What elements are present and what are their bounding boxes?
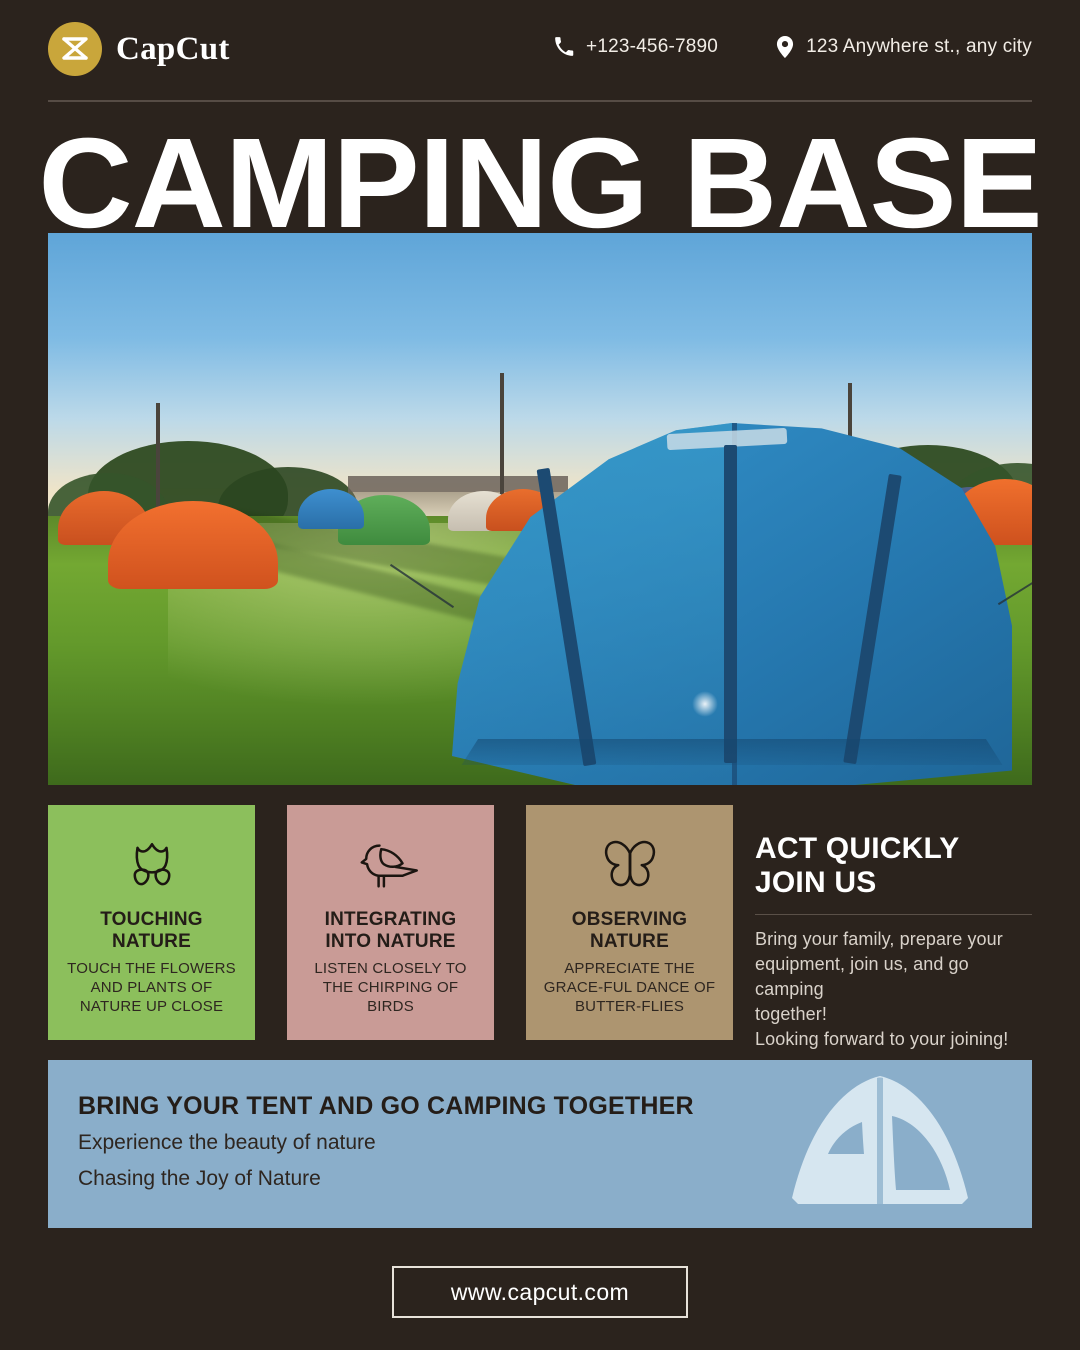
banner-text-block: BRING YOUR TENT AND GO CAMPING TOGETHER … [78, 1092, 778, 1193]
page-title: CAMPING BASE [0, 128, 1080, 240]
lens-flare [692, 691, 718, 717]
phone-contact[interactable]: +123-456-7890 [554, 36, 718, 58]
phone-icon [554, 37, 574, 57]
card-description: APPRECIATE THE GRACE-FUL DANCE OF BUTTER… [526, 959, 733, 1016]
capcut-glyph-icon [60, 36, 90, 62]
website-url: www.capcut.com [451, 1279, 629, 1306]
address-text: 123 Anywhere st., any city [806, 36, 1032, 58]
contact-info: +123-456-7890 123 Anywhere st., any city [554, 36, 1032, 58]
card-title-line1: TOUCHING [100, 909, 203, 931]
banner-line-2: Chasing the Joy of Nature [78, 1164, 778, 1193]
feature-card-observing-nature[interactable]: OBSERVING NATURE APPRECIATE THE GRACE-FU… [526, 805, 733, 1040]
tent-strap-2 [724, 445, 737, 763]
cta-body-line3: together! [755, 1002, 1032, 1027]
header: CapCut +123-456-7890 123 Anywhere st., a… [0, 0, 1080, 100]
location-pin-icon [776, 36, 794, 58]
cta-banner: BRING YOUR TENT AND GO CAMPING TOGETHER … [48, 1060, 1032, 1228]
cta-body-line2: equipment, join us, and go camping [755, 952, 1032, 1002]
poster-root: CapCut +123-456-7890 123 Anywhere st., a… [0, 0, 1080, 1350]
card-title-line2: NATURE [590, 931, 669, 953]
cta-block: ACT QUICKLY JOIN US Bring your family, p… [755, 832, 1032, 1052]
feature-card-integrating-into-nature[interactable]: INTEGRATING INTO NATURE LISTEN CLOSELY T… [287, 805, 494, 1040]
bird-glyph [360, 838, 422, 894]
hero-photo [48, 233, 1032, 785]
foreground-blue-tent [452, 423, 1012, 785]
cta-title-line1: ACT QUICKLY [755, 832, 1032, 866]
tent-glyph [764, 1070, 996, 1220]
card-description: TOUCH THE FLOWERS AND PLANTS OF NATURE U… [48, 959, 255, 1016]
phone-text: +123-456-7890 [586, 36, 718, 58]
website-button[interactable]: www.capcut.com [392, 1266, 688, 1318]
address-contact[interactable]: 123 Anywhere st., any city [776, 36, 1032, 58]
light-pole-3 [156, 403, 160, 519]
tent-icon [764, 1070, 996, 1225]
butterfly-icon [599, 835, 661, 897]
cta-body-line1: Bring your family, prepare your [755, 927, 1032, 952]
card-description: LISTEN CLOSELY TO THE CHIRPING OF BIRDS [287, 959, 494, 1016]
card-title-line2: INTO NATURE [325, 931, 455, 953]
brand-name: CapCut [116, 31, 230, 68]
tent-hem [456, 739, 1008, 765]
capcut-logo-icon [48, 22, 102, 76]
butterfly-glyph [599, 837, 661, 895]
cta-title-line2: JOIN US [755, 866, 1032, 900]
header-divider [48, 100, 1032, 102]
card-title-line1: INTEGRATING [325, 909, 457, 931]
cta-divider [755, 914, 1032, 915]
card-title-line2: NATURE [112, 931, 191, 953]
banner-line-1: Experience the beauty of nature [78, 1128, 778, 1157]
banner-title: BRING YOUR TENT AND GO CAMPING TOGETHER [78, 1092, 778, 1121]
tulip-flower-icon [123, 835, 181, 897]
feature-card-touching-nature[interactable]: TOUCHING NATURE TOUCH THE FLOWERS AND PL… [48, 805, 255, 1040]
bird-icon [360, 835, 422, 897]
brand-logo[interactable]: CapCut [48, 22, 230, 76]
card-title-line1: OBSERVING [572, 909, 687, 931]
tulip-flower-glyph [123, 837, 181, 895]
cta-body-line4: Looking forward to your joining! [755, 1027, 1032, 1052]
